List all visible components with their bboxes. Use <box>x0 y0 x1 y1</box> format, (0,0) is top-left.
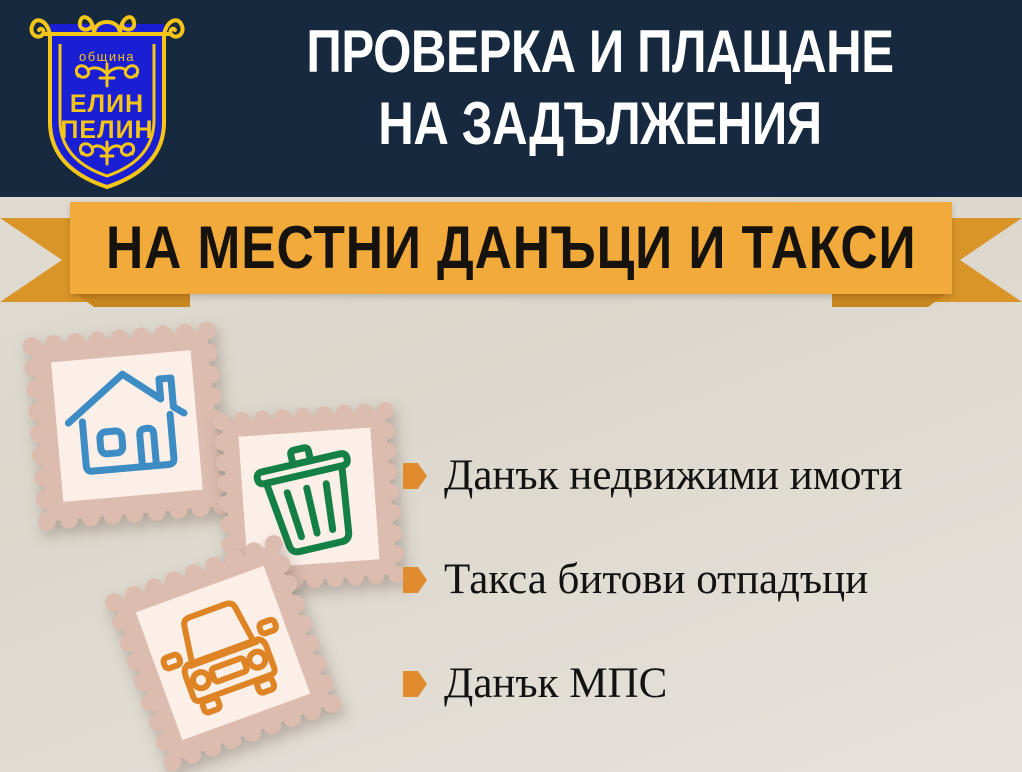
tax-type-list: Данък недвижими имоти Такса битови отпад… <box>403 424 1013 736</box>
bullet-arrow-icon <box>403 463 427 489</box>
logo-main-label-line2: ПЕЛИН <box>60 116 153 144</box>
bullet-arrow-icon <box>403 671 427 697</box>
logo-small-label: община <box>79 49 135 64</box>
page-title: ПРОВЕРКА И ПЛАЩАНЕ НА ЗАДЪЛЖЕНИЯ <box>264 16 936 160</box>
list-item[interactable]: Такса битови отпадъци <box>403 528 1013 632</box>
ribbon-banner: НА МЕСТНИ ДАНЪЦИ И ТАКСИ <box>0 196 1022 306</box>
municipality-logo: община ЕЛИН ПЕЛИН <box>22 4 192 192</box>
list-item[interactable]: Данък недвижими имоти <box>403 424 1013 528</box>
logo-main-label-line1: ЕЛИН <box>70 90 144 118</box>
list-item-label: Данък недвижими имоти <box>444 452 903 500</box>
vehicle-stamp-card <box>98 528 348 772</box>
ribbon-panel: НА МЕСТНИ ДАНЪЦИ И ТАКСИ <box>70 202 952 294</box>
ribbon-subtitle: НА МЕСТНИ ДАНЪЦИ И ТАКСИ <box>106 217 916 279</box>
bullet-arrow-icon <box>403 567 427 593</box>
poster-canvas: ПРОВЕРКА И ПЛАЩАНЕ НА ЗАДЪЛЖЕНИЯ община <box>0 0 1022 772</box>
list-item-label: Такса битови отпадъци <box>444 556 868 604</box>
list-item-label: Данък МПС <box>444 660 667 708</box>
list-item[interactable]: Данък МПС <box>403 632 1013 736</box>
